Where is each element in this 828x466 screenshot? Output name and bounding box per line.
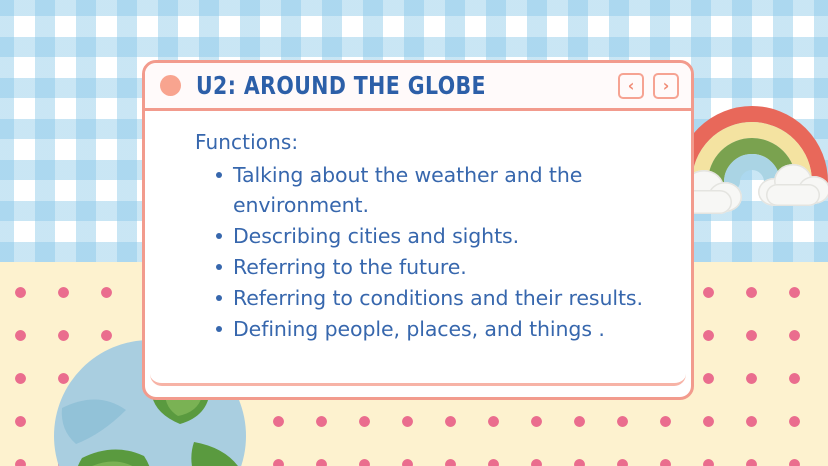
next-slide-button[interactable]: › [653, 73, 679, 99]
list-item: Referring to conditions and their result… [233, 283, 665, 313]
list-item: Talking about the weather and the enviro… [233, 160, 665, 220]
functions-heading: Functions: [195, 130, 665, 154]
card-content: Functions: Talking about the weather and… [145, 108, 691, 397]
functions-list: Talking about the weather and the enviro… [195, 160, 665, 344]
list-item: Referring to the future. [233, 252, 665, 282]
cloud-right-icon [756, 160, 828, 210]
list-item: Describing cities and sights. [233, 221, 665, 251]
card-title-bar: U2: AROUND THE GLOBE ‹ › [145, 63, 691, 111]
previous-slide-button[interactable]: ‹ [618, 73, 644, 99]
list-item: Defining people, places, and things . [233, 314, 665, 344]
slide-canvas: U2: AROUND THE GLOBE ‹ › Functions: Talk… [0, 0, 828, 466]
slide-card: U2: AROUND THE GLOBE ‹ › Functions: Talk… [142, 60, 694, 400]
card-nav-buttons: ‹ › [618, 73, 679, 99]
status-dot-badge [160, 75, 181, 96]
page-title: U2: AROUND THE GLOBE [196, 71, 486, 100]
